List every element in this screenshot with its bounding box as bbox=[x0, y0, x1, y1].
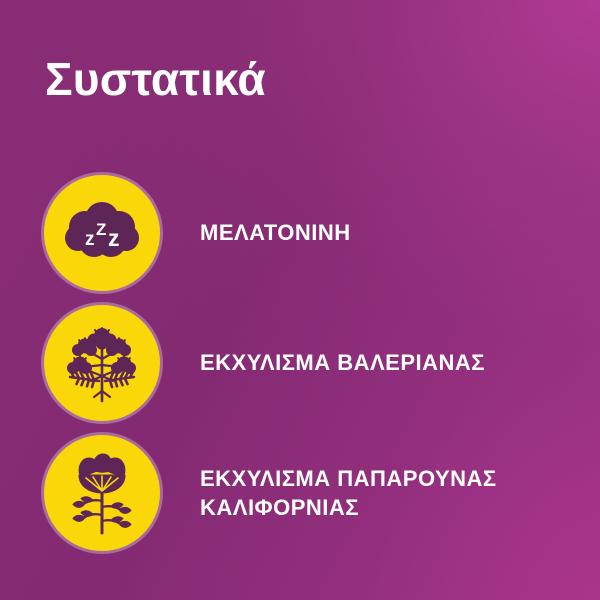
svg-text:z: z bbox=[85, 229, 95, 250]
ingredient-row-melatonin: z Z z ΜΕΛΑΤΟΝΙΝΗ bbox=[0, 168, 600, 298]
ingredient-label: ΕΚΧΥΛΙΣΜΑ ΠΑΠΑΡΟΥΝΑΣ ΚΑΛΙΦΟΡΝΙΑΣ bbox=[200, 464, 600, 522]
ingredient-badge bbox=[44, 305, 160, 421]
ingredient-badge: z Z z bbox=[44, 175, 160, 291]
ingredient-row-valerian: ΕΚΧΥΛΙΣΜΑ ΒΑΛΕΡΙΑΝΑΣ bbox=[0, 298, 600, 428]
ingredient-row-california-poppy: ΕΚΧΥΛΙΣΜΑ ΠΑΠΑΡΟΥΝΑΣ ΚΑΛΙΦΟΡΝΙΑΣ bbox=[0, 428, 600, 558]
svg-text:z: z bbox=[108, 225, 120, 251]
california-poppy-icon bbox=[62, 449, 142, 537]
ingredient-badge bbox=[44, 435, 160, 551]
ingredients-list: z Z z ΜΕΛΑΤΟΝΙΝΗ bbox=[0, 168, 600, 558]
valerian-plant-icon bbox=[61, 321, 143, 405]
ingredients-poster: Συστατικά bbox=[0, 0, 600, 600]
svg-text:Z: Z bbox=[96, 220, 106, 239]
sleep-cloud-zzz-icon: z Z z bbox=[63, 202, 141, 264]
ingredient-label: ΜΕΛΑΤΟΝΙΝΗ bbox=[200, 218, 600, 247]
page-title: Συστατικά bbox=[45, 56, 266, 102]
ingredient-label: ΕΚΧΥΛΙΣΜΑ ΒΑΛΕΡΙΑΝΑΣ bbox=[200, 348, 600, 377]
